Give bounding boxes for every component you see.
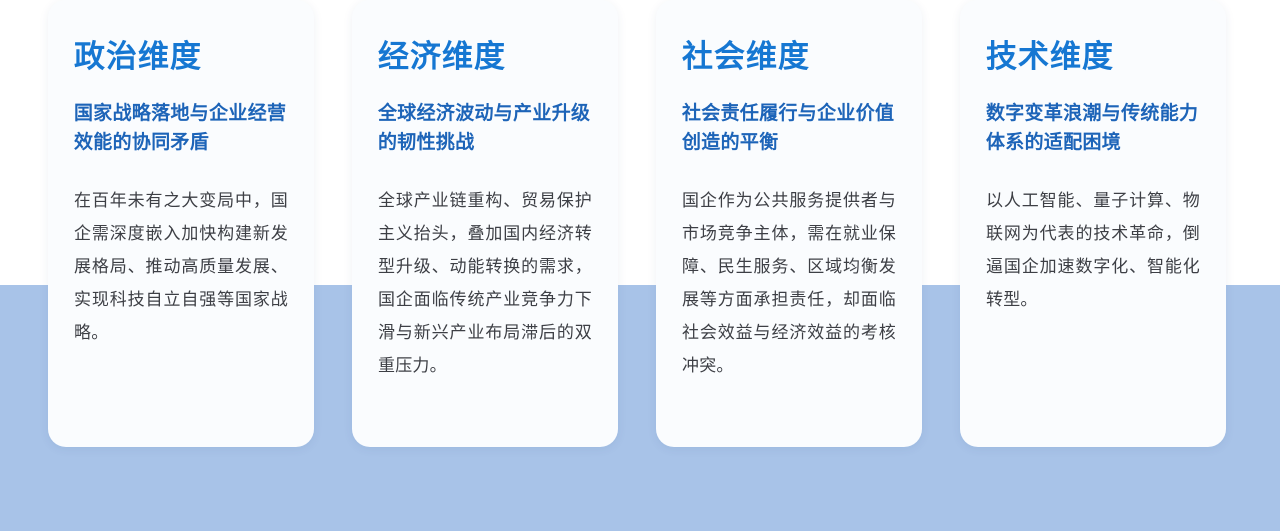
dimension-card-economic: 经济维度 全球经济波动与产业升级的韧性挑战 全球产业链重构、贸易保护主义抬头，叠…: [352, 0, 618, 447]
card-body: 全球产业链重构、贸易保护主义抬头，叠加国内经济转型升级、动能转换的需求，国企面临…: [378, 184, 592, 383]
card-body: 在百年未有之大变局中，国企需深度嵌入加快构建新发展格局、推动高质量发展、实现科技…: [74, 184, 288, 350]
card-subtitle: 国家战略落地与企业经营效能的协同矛盾: [74, 99, 288, 158]
card-subtitle: 数字变革浪潮与传统能力体系的适配困境: [986, 99, 1200, 158]
dimension-card-social: 社会维度 社会责任履行与企业价值创造的平衡 国企作为公共服务提供者与市场竞争主体…: [656, 0, 922, 447]
card-subtitle: 社会责任履行与企业价值创造的平衡: [682, 99, 896, 158]
card-body: 以人工智能、量子计算、物联网为代表的技术革命，倒逼国企加速数字化、智能化转型。: [986, 184, 1200, 317]
dimension-card-technology: 技术维度 数字变革浪潮与传统能力体系的适配困境 以人工智能、量子计算、物联网为代…: [960, 0, 1226, 447]
card-title: 经济维度: [378, 38, 592, 77]
card-body: 国企作为公共服务提供者与市场竞争主体，需在就业保障、民生服务、区域均衡发展等方面…: [682, 184, 896, 383]
dimension-card-political: 政治维度 国家战略落地与企业经营效能的协同矛盾 在百年未有之大变局中，国企需深度…: [48, 0, 314, 447]
card-title: 技术维度: [986, 38, 1200, 77]
card-subtitle: 全球经济波动与产业升级的韧性挑战: [378, 99, 592, 158]
dimension-card-row: 政治维度 国家战略落地与企业经营效能的协同矛盾 在百年未有之大变局中，国企需深度…: [0, 0, 1280, 531]
card-title: 社会维度: [682, 38, 896, 77]
card-title: 政治维度: [74, 38, 288, 77]
slide-canvas: 政治维度 国家战略落地与企业经营效能的协同矛盾 在百年未有之大变局中，国企需深度…: [0, 0, 1280, 531]
